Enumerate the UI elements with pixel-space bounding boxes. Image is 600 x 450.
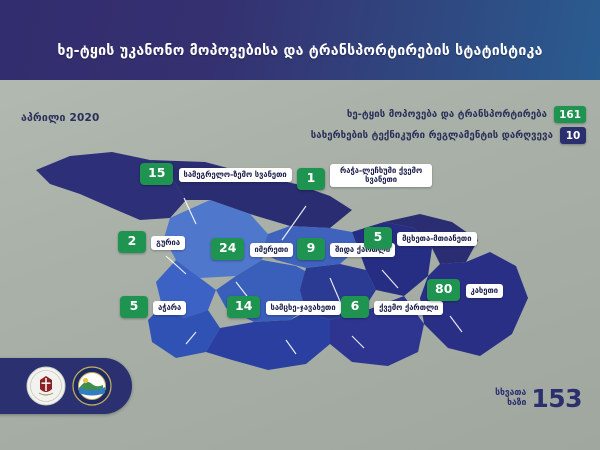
region-value: 80: [427, 279, 460, 301]
ministry-emblem-icon: [72, 366, 112, 406]
total-label-line-2: ხაზი: [495, 399, 526, 408]
total-summary: სხვათა ხაზი 153: [495, 386, 582, 411]
region-marker-samtskhe[interactable]: 14 სამცხე-ჯავახეთი: [227, 295, 341, 318]
region-label: იმერეთი: [250, 243, 294, 257]
region-marker-guria[interactable]: 2 გურია: [118, 230, 185, 253]
region-label: სამეგრელო-ზემო სვანეთი: [179, 168, 292, 182]
region-value: 15: [140, 163, 173, 185]
region-label: გურია: [151, 236, 185, 250]
region-value: 24: [211, 238, 244, 260]
legend-badge-count: 161: [554, 106, 586, 123]
date-label: აპრილი 2020: [21, 112, 99, 124]
header-banner: ხე-ტყის უკანონო მოპოვებისა და ტრანსპორტი…: [0, 0, 600, 80]
region-marker-adjara[interactable]: 5 აჭარა: [120, 295, 186, 318]
region-marker-imereti[interactable]: 24 იმერეთი: [211, 237, 293, 260]
region-value: 6: [341, 296, 369, 318]
infographic-root: ხე-ტყის უკანონო მოპოვებისა და ტრანსპორტი…: [0, 0, 600, 450]
legend-row: ხე-ტყის მოპოვება და ტრანსპორტირება 161: [156, 106, 586, 123]
region-value: 14: [227, 296, 260, 318]
legend-row: სახერხების ტექნიკური რეგლამენტის დარღვევ…: [156, 127, 586, 144]
region-marker-samegrelo[interactable]: 15 სამეგრელო-ზემო სვანეთი: [140, 162, 292, 185]
region-marker-racha[interactable]: 1 რაჭა-ლეჩხუმი ქვემო სვანეთი: [297, 162, 432, 190]
legend-badge-count: 10: [560, 127, 586, 144]
legend-label: სახერხების ტექნიკური რეგლამენტის დარღვევ…: [311, 130, 553, 141]
region-marker-kakheti[interactable]: 80 კახეთი: [427, 278, 503, 301]
total-label: სხვათა ხაზი: [495, 389, 526, 408]
georgia-map: 15 სამეგრელო-ზემო სვანეთი 1 რაჭა-ლეჩხუმი…: [0, 148, 600, 388]
legend-label: ხე-ტყის მოპოვება და ტრანსპორტირება: [347, 109, 547, 120]
region-label: აჭარა: [153, 301, 186, 315]
region-label: კახეთი: [466, 284, 504, 298]
region-value: 1: [297, 168, 325, 190]
region-value: 2: [118, 231, 146, 253]
region-value: 9: [297, 238, 325, 260]
total-value: 153: [531, 386, 582, 411]
region-label: სამცხე-ჯავახეთი: [266, 301, 341, 315]
region-value: 5: [120, 296, 148, 318]
region-label: ქვემო ქართლი: [374, 301, 443, 315]
logo-plate: [0, 358, 132, 414]
page-title: ხე-ტყის უკანონო მოპოვებისა და ტრანსპორტი…: [0, 0, 600, 80]
region-marker-mtskheta[interactable]: 5 მცხეთა-მთიანეთი: [364, 226, 477, 249]
legend: ხე-ტყის მოპოვება და ტრანსპორტირება 161 ს…: [156, 106, 586, 148]
region-label: რაჭა-ლეჩხუმი ქვემო სვანეთი: [330, 164, 432, 187]
government-emblem-icon: [26, 366, 66, 406]
region-label: მცხეთა-მთიანეთი: [397, 232, 476, 246]
region-value: 5: [364, 227, 392, 249]
